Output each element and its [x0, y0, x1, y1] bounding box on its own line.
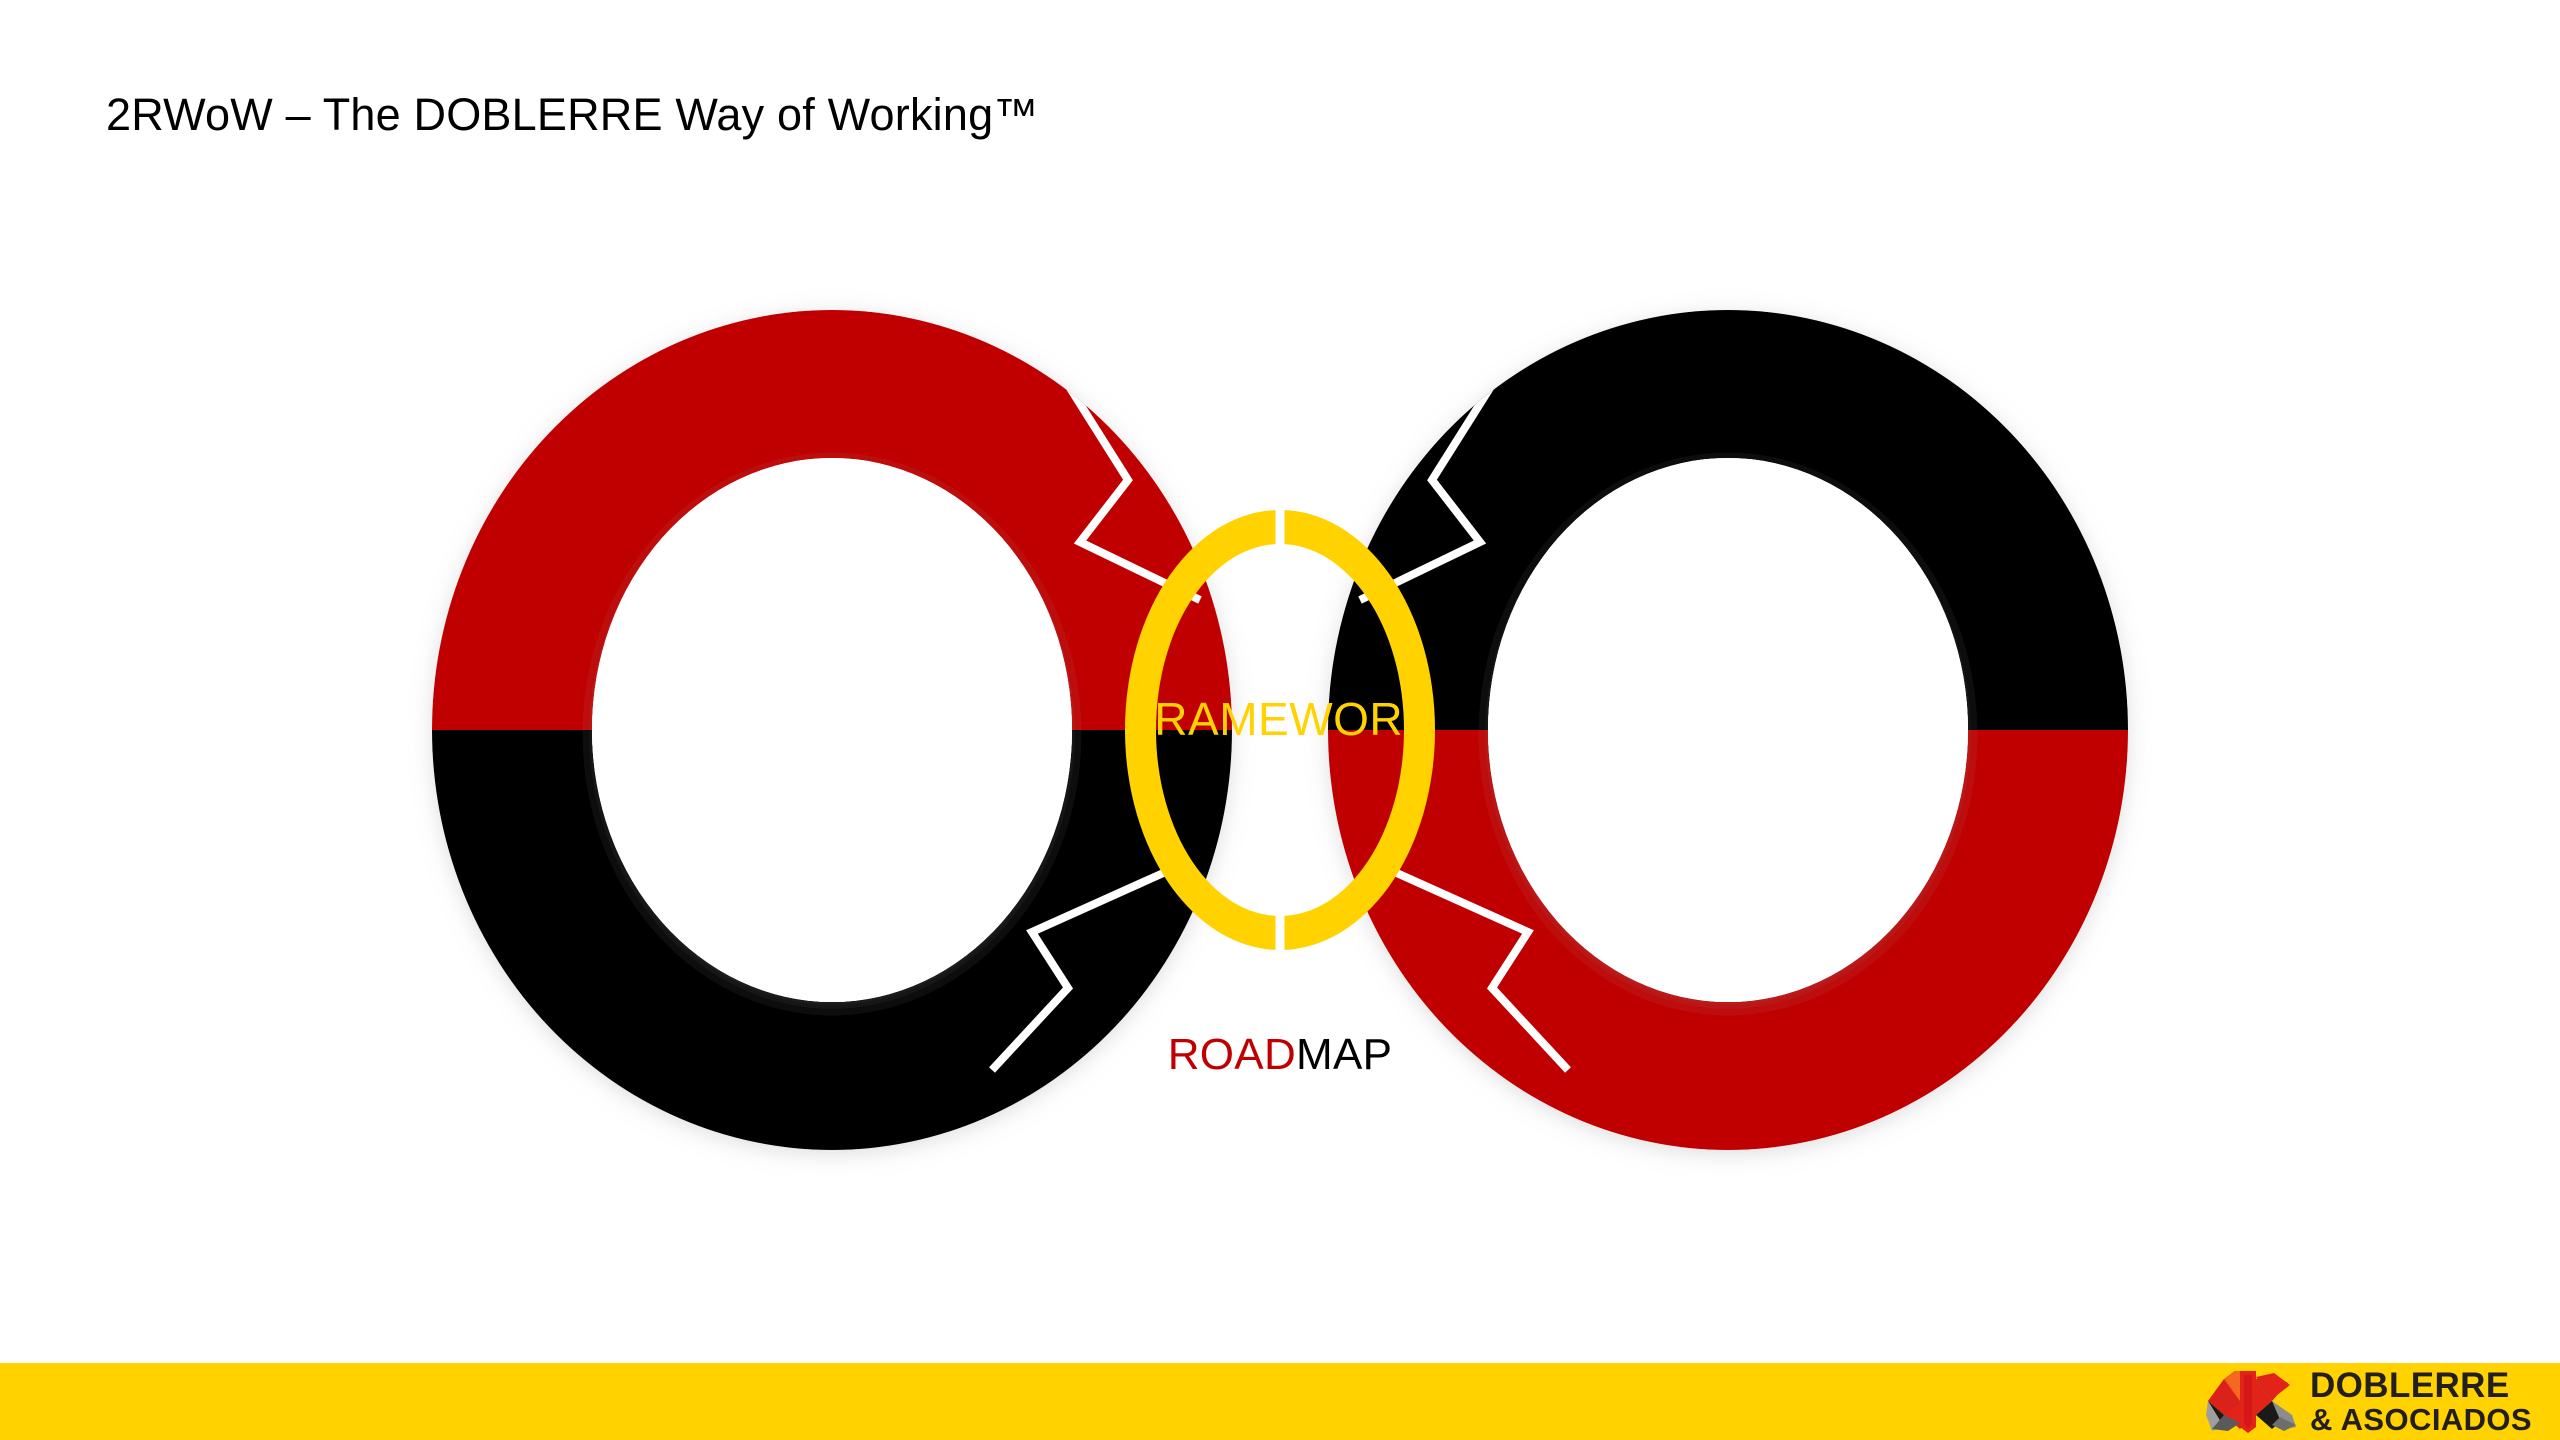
brand-words: DOBLERRE & ASOCIADOS	[2310, 1368, 2532, 1435]
doblerre-logo-mark-icon	[2204, 1371, 2300, 1433]
roadmap-label: ROADMAP	[0, 1030, 2560, 1080]
brand-lockup: DOBLERRE & ASOCIADOS	[2204, 1368, 2532, 1436]
roadmap-label-map: MAP	[1296, 1030, 1392, 1079]
right-loop-hole-fill	[1488, 458, 1968, 1002]
brand-name: DOBLERRE	[2310, 1368, 2532, 1404]
roadmap-label-road: ROAD	[1168, 1030, 1296, 1079]
brand-sub: & ASOCIADOS	[2310, 1404, 2532, 1436]
brand-bar	[0, 1363, 2560, 1440]
page-title: 2RWoW – The DOBLERRE Way of Working™	[106, 88, 1039, 142]
framework-ring	[1080, 470, 1480, 990]
